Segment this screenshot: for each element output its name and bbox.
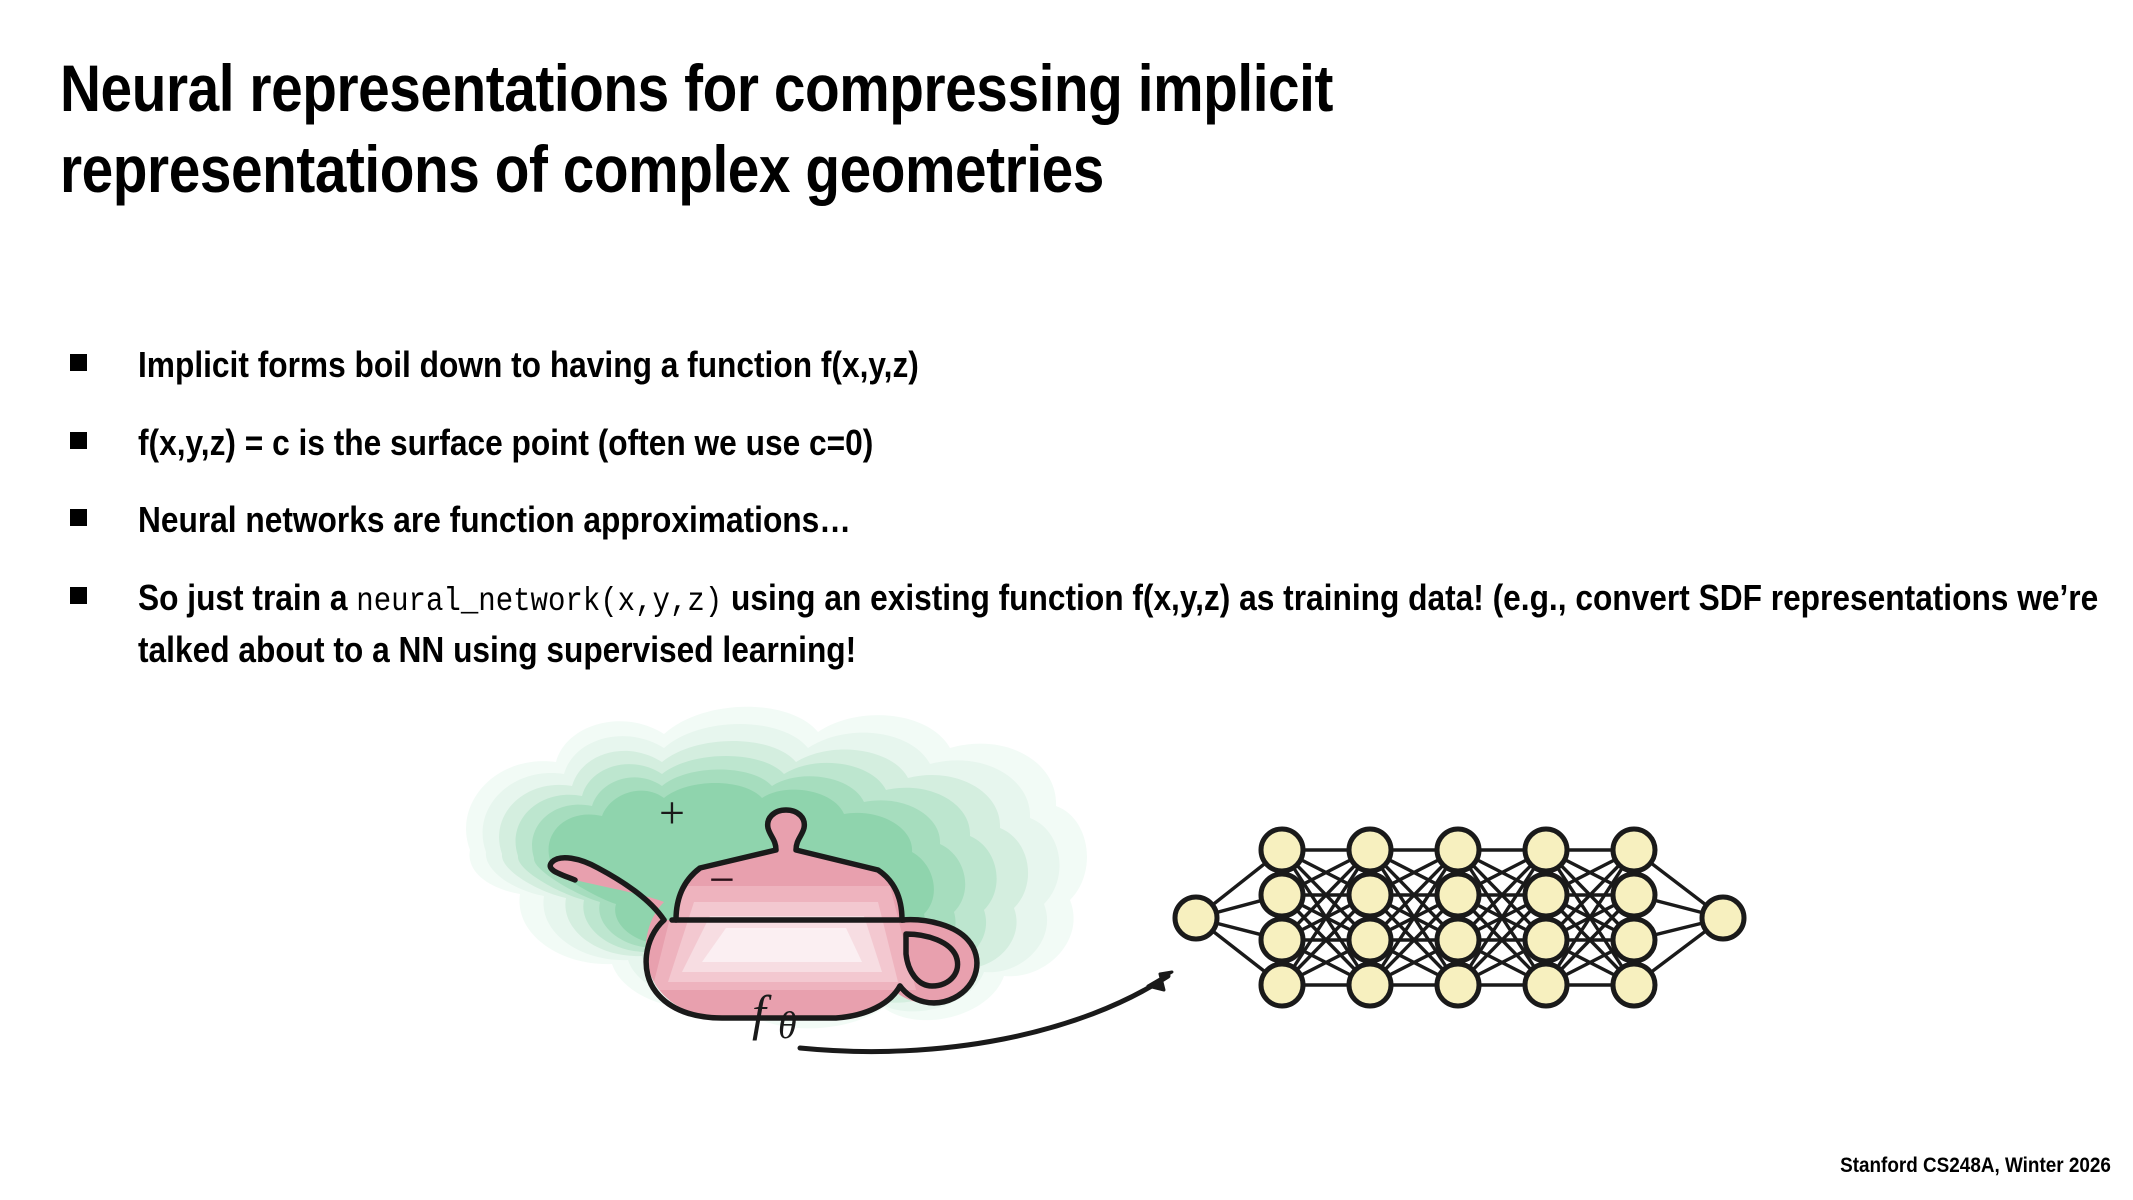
- f-theta-theta-glyph: θ: [778, 1005, 797, 1047]
- arrow-head: [1148, 972, 1172, 990]
- page-title: Neural representations for compressing i…: [60, 48, 1694, 209]
- page-title-line-1: Neural representations for compressing i…: [60, 48, 1694, 129]
- square-bullet-icon: [70, 587, 87, 604]
- bullet-text: Neural networks are function approximati…: [138, 495, 2133, 545]
- bullet-list: Implicit forms boil down to having a fun…: [60, 340, 2090, 702]
- network-node: [1437, 919, 1479, 961]
- teapot-shade-5: [702, 928, 862, 962]
- figure-svg: + − f θ: [0, 690, 2133, 1120]
- network-node: [1261, 829, 1303, 871]
- square-bullet-icon: [70, 509, 87, 526]
- network-node: [1437, 829, 1479, 871]
- neural-network-diagram: [1175, 829, 1744, 1006]
- network-node: [1261, 964, 1303, 1006]
- network-node: [1613, 964, 1655, 1006]
- network-node: [1613, 919, 1655, 961]
- network-node-input: [1175, 897, 1217, 939]
- minus-sign-inside: −: [709, 854, 735, 905]
- network-node: [1525, 964, 1567, 1006]
- square-bullet-icon: [70, 354, 87, 371]
- list-item: So just train a neural_network(x,y,z) us…: [60, 573, 2090, 674]
- slide-root: Neural representations for compressing i…: [0, 0, 2133, 1200]
- network-node: [1437, 964, 1479, 1006]
- network-node-output: [1702, 897, 1744, 939]
- network-node: [1525, 919, 1567, 961]
- network-node: [1261, 874, 1303, 916]
- network-node: [1613, 874, 1655, 916]
- inline-code: neural_network(x,y,z): [356, 583, 722, 620]
- network-node: [1349, 874, 1391, 916]
- network-node: [1525, 874, 1567, 916]
- network-node: [1349, 919, 1391, 961]
- bullet-text-with-code: So just train a neural_network(x,y,z) us…: [138, 573, 2133, 674]
- network-node: [1613, 829, 1655, 871]
- network-node: [1349, 964, 1391, 1006]
- page-title-line-2: representations of complex geometries: [60, 129, 1694, 210]
- square-bullet-icon: [70, 432, 87, 449]
- plus-sign-outside: +: [659, 787, 685, 838]
- network-nodes: [1175, 829, 1744, 1006]
- bullet-text: f(x,y,z) = c is the surface point (often…: [138, 418, 2133, 468]
- network-node: [1349, 829, 1391, 871]
- figure-implicit-to-network: + − f θ: [0, 690, 2133, 1120]
- bullet-text-prefix: So just train a: [138, 577, 356, 618]
- list-item: f(x,y,z) = c is the surface point (often…: [60, 418, 2090, 468]
- slide-footer: Stanford CS248A, Winter 2026: [1840, 1154, 2111, 1178]
- network-node: [1261, 919, 1303, 961]
- network-node: [1525, 829, 1567, 871]
- list-item: Implicit forms boil down to having a fun…: [60, 340, 2090, 390]
- list-item: Neural networks are function approximati…: [60, 495, 2090, 545]
- network-node: [1437, 874, 1479, 916]
- bullet-text: Implicit forms boil down to having a fun…: [138, 340, 2133, 390]
